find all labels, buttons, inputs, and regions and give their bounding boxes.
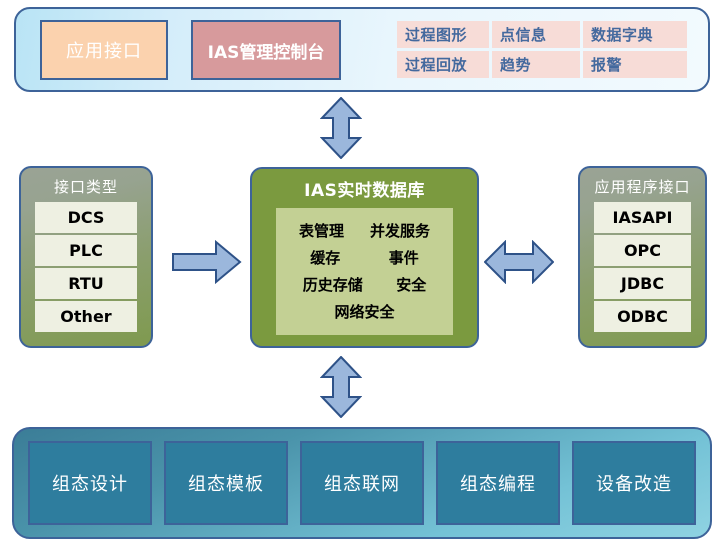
database-module-row: 网络安全 [276, 298, 453, 325]
database-modules-panel: 表管理 并发服务 缓存 事件 历史存储 安全 网络安全 [276, 208, 453, 335]
feature-cell-trend[interactable]: 趋势 [492, 51, 580, 78]
interface-types-panel: 接口类型 DCS PLC RTU Other [19, 166, 153, 348]
ias-console-label: IAS管理控制台 [208, 38, 325, 63]
feature-label: 数据字典 [591, 24, 653, 45]
bottom-box-label: 组态模板 [188, 470, 264, 496]
database-module-cache[interactable]: 缓存 [310, 247, 340, 268]
database-module-network-security[interactable]: 网络安全 [334, 301, 394, 322]
bottom-box-label: 组态设计 [52, 470, 128, 496]
bottom-box-configuration-design[interactable]: 组态设计 [28, 441, 152, 525]
database-module-row: 缓存 事件 [276, 244, 453, 271]
double-headed-vertical-arrow-icon [320, 356, 362, 418]
feature-cell-process-replay[interactable]: 过程回放 [397, 51, 489, 78]
bottom-box-configuration-programming[interactable]: 组态编程 [436, 441, 560, 525]
feature-cell-process-graphics[interactable]: 过程图形 [397, 21, 489, 48]
bottom-box-label: 设备改造 [596, 470, 672, 496]
database-module-table-management[interactable]: 表管理 [299, 220, 344, 241]
list-item-label: OPC [624, 241, 661, 260]
bottom-box-configuration-template[interactable]: 组态模板 [164, 441, 288, 525]
database-module-row: 历史存储 安全 [276, 271, 453, 298]
database-module-row: 表管理 并发服务 [276, 217, 453, 244]
list-item-label: RTU [68, 274, 104, 293]
database-title: IAS实时数据库 [252, 176, 477, 208]
list-item-label: Other [60, 307, 111, 326]
list-item[interactable]: PLC [35, 235, 137, 266]
list-item[interactable]: JDBC [594, 268, 691, 299]
app-interface-label: 应用接口 [66, 37, 142, 63]
list-item-label: JDBC [621, 274, 664, 293]
feature-label: 点信息 [500, 24, 547, 45]
application-program-interface-panel: 应用程序接口 IASAPI OPC JDBC ODBC [578, 166, 707, 348]
api-panel-title: 应用程序接口 [580, 174, 705, 202]
feature-grid: 过程图形 点信息 数据字典 过程回放 趋势 报警 [397, 21, 681, 78]
feature-label: 过程回放 [405, 54, 467, 75]
ias-realtime-database-box: IAS实时数据库 表管理 并发服务 缓存 事件 历史存储 安全 网络安全 [250, 167, 479, 348]
bottom-configuration-panel: 组态设计 组态模板 组态联网 组态编程 设备改造 [12, 427, 712, 539]
feature-cell-point-info[interactable]: 点信息 [492, 21, 580, 48]
interface-types-list: DCS PLC RTU Other [35, 202, 137, 332]
bottom-box-configuration-networking[interactable]: 组态联网 [300, 441, 424, 525]
list-item-label: IASAPI [613, 208, 673, 227]
list-item[interactable]: ODBC [594, 301, 691, 332]
ias-management-console-box[interactable]: IAS管理控制台 [191, 20, 341, 80]
feature-label: 过程图形 [405, 24, 467, 45]
api-list: IASAPI OPC JDBC ODBC [594, 202, 691, 332]
database-module-concurrent-service[interactable]: 并发服务 [370, 220, 430, 241]
database-module-event[interactable]: 事件 [389, 247, 419, 268]
bottom-box-equipment-renovation[interactable]: 设备改造 [572, 441, 696, 525]
top-application-panel: 应用接口 IAS管理控制台 过程图形 点信息 数据字典 过程回放 趋势 报警 [14, 7, 710, 92]
feature-label: 报警 [591, 54, 622, 75]
feature-label: 趋势 [500, 54, 531, 75]
list-item[interactable]: OPC [594, 235, 691, 266]
interface-types-title: 接口类型 [21, 174, 151, 202]
list-item[interactable]: RTU [35, 268, 137, 299]
right-arrow-icon [172, 240, 242, 284]
double-headed-vertical-arrow-icon [320, 97, 362, 159]
feature-cell-alarm[interactable]: 报警 [583, 51, 687, 78]
list-item[interactable]: DCS [35, 202, 137, 233]
list-item[interactable]: Other [35, 301, 137, 332]
bottom-box-label: 组态编程 [460, 470, 536, 496]
list-item-label: DCS [68, 208, 105, 227]
database-module-history-storage[interactable]: 历史存储 [303, 274, 363, 295]
list-item[interactable]: IASAPI [594, 202, 691, 233]
app-interface-box[interactable]: 应用接口 [40, 20, 168, 80]
feature-cell-data-dictionary[interactable]: 数据字典 [583, 21, 687, 48]
database-module-security[interactable]: 安全 [396, 274, 426, 295]
double-headed-horizontal-arrow-icon [484, 240, 554, 284]
list-item-label: PLC [69, 241, 103, 260]
list-item-label: ODBC [617, 307, 668, 326]
bottom-box-label: 组态联网 [324, 470, 400, 496]
